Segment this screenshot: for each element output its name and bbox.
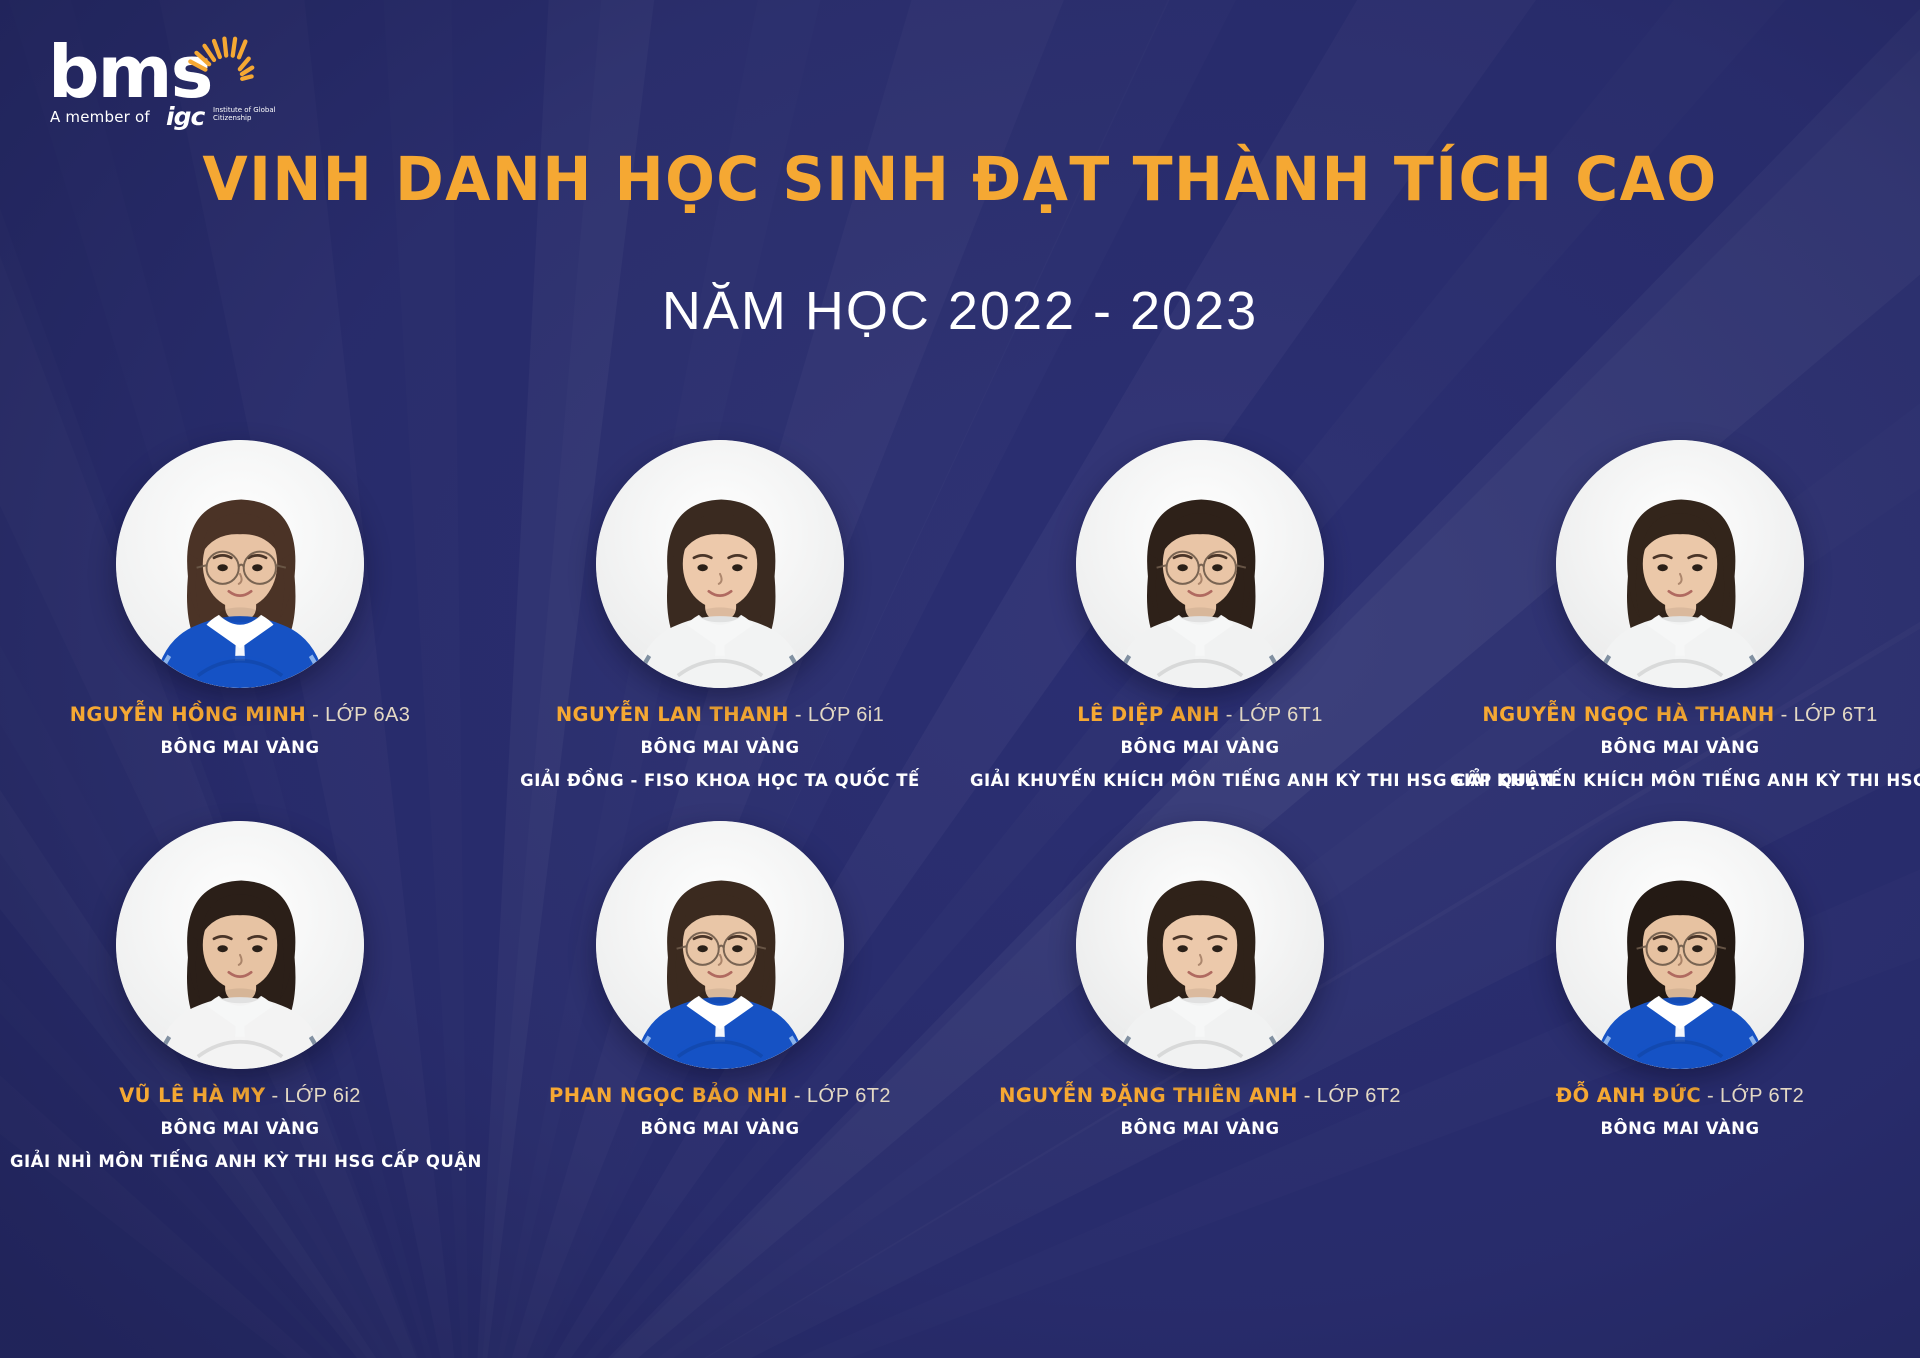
student-name-line: NGUYỄN NGỌC HÀ THANH - LỚP 6T1	[1450, 702, 1910, 728]
student-portrait-image	[1076, 440, 1324, 688]
student-class: - LỚP 6T1	[1220, 704, 1323, 726]
logo-wordmark: bms	[48, 36, 211, 108]
student-award: BÔNG MAI VÀNG	[490, 735, 950, 761]
student-name: NGUYỄN HỒNG MINH	[70, 703, 306, 726]
student-name: LÊ DIỆP ANH	[1077, 703, 1220, 726]
students-grid: NGUYỄN HỒNG MINH - LỚP 6A3BÔNG MAI VÀNG	[0, 440, 1920, 1174]
students-row: VŨ LÊ HÀ MY - LỚP 6i2BÔNG MAI VÀNGGIẢI N…	[0, 821, 1920, 1174]
student-class: - LỚP 6i1	[789, 704, 884, 726]
student-card: PHAN NGỌC BẢO NHI - LỚP 6T2BÔNG MAI VÀNG	[480, 821, 960, 1174]
student-photo	[596, 821, 844, 1069]
student-caption: NGUYỄN HỒNG MINH - LỚP 6A3BÔNG MAI VÀNG	[10, 702, 470, 761]
student-class: - LỚP 6T2	[1701, 1085, 1804, 1107]
student-caption: NGUYỄN LAN THANH - LỚP 6i1BÔNG MAI VÀNGG…	[490, 702, 950, 793]
student-photo	[1556, 440, 1804, 688]
student-photo	[1076, 440, 1324, 688]
student-caption: ĐỖ ANH ĐỨC - LỚP 6T2BÔNG MAI VÀNG	[1450, 1083, 1910, 1142]
student-caption: VŨ LÊ HÀ MY - LỚP 6i2BÔNG MAI VÀNGGIẢI N…	[10, 1083, 470, 1174]
student-photo	[116, 821, 364, 1069]
student-portrait-image	[1556, 821, 1804, 1069]
igc-wordmark: igc	[166, 102, 204, 131]
student-class: - LỚP 6A3	[306, 704, 410, 726]
student-award: BÔNG MAI VÀNG	[970, 735, 1430, 761]
student-award: BÔNG MAI VÀNG	[490, 1116, 950, 1142]
student-class: - LỚP 6T2	[1298, 1085, 1401, 1107]
bms-logo: bms A member of igc Institute of Glo	[48, 26, 308, 134]
student-name-line: LÊ DIỆP ANH - LỚP 6T1	[970, 702, 1430, 728]
student-photo	[1076, 821, 1324, 1069]
logo-member-text: A member of	[50, 108, 150, 126]
student-award: GIẢI ĐỒNG - FISO KHOA HỌC TA QUỐC TẾ	[490, 768, 950, 794]
student-portrait-image	[596, 440, 844, 688]
student-name-line: VŨ LÊ HÀ MY - LỚP 6i2	[10, 1083, 470, 1109]
sunburst-icon	[188, 28, 270, 110]
student-photo	[596, 440, 844, 688]
student-name: PHAN NGỌC BẢO NHI	[549, 1084, 788, 1107]
student-caption: LÊ DIỆP ANH - LỚP 6T1BÔNG MAI VÀNGGIẢI K…	[970, 702, 1430, 793]
student-caption: NGUYỄN NGỌC HÀ THANH - LỚP 6T1BÔNG MAI V…	[1450, 702, 1910, 793]
page-title: VINH DANH HỌC SINH ĐẠT THÀNH TÍCH CAO	[38, 148, 1881, 212]
student-portrait-image	[1556, 440, 1804, 688]
student-portrait-image	[116, 440, 364, 688]
student-card: NGUYỄN ĐẶNG THIÊN ANH - LỚP 6T2BÔNG MAI …	[960, 821, 1440, 1174]
student-caption: PHAN NGỌC BẢO NHI - LỚP 6T2BÔNG MAI VÀNG	[490, 1083, 950, 1142]
student-photo	[1556, 821, 1804, 1069]
student-class: - LỚP 6i2	[266, 1085, 361, 1107]
student-name: NGUYỄN LAN THANH	[556, 703, 789, 726]
student-name-line: ĐỖ ANH ĐỨC - LỚP 6T2	[1450, 1083, 1910, 1109]
student-portrait-image	[1076, 821, 1324, 1069]
student-award: BÔNG MAI VÀNG	[970, 1116, 1430, 1142]
student-award: GIẢI KHUYẾN KHÍCH MÔN TIẾNG ANH KỲ THI H…	[1450, 768, 1910, 794]
igc-tagline: Institute of Global Citizenship	[213, 106, 283, 122]
student-card: NGUYỄN NGỌC HÀ THANH - LỚP 6T1BÔNG MAI V…	[1440, 440, 1920, 793]
student-caption: NGUYỄN ĐẶNG THIÊN ANH - LỚP 6T2BÔNG MAI …	[970, 1083, 1430, 1142]
students-row: NGUYỄN HỒNG MINH - LỚP 6A3BÔNG MAI VÀNG	[0, 440, 1920, 793]
student-photo	[116, 440, 364, 688]
student-name: VŨ LÊ HÀ MY	[119, 1084, 265, 1107]
student-award: BÔNG MAI VÀNG	[1450, 735, 1910, 761]
student-class: - LỚP 6T1	[1775, 704, 1878, 726]
student-award: BÔNG MAI VÀNG	[1450, 1116, 1910, 1142]
student-name-line: NGUYỄN LAN THANH - LỚP 6i1	[490, 702, 950, 728]
student-name: NGUYỄN ĐẶNG THIÊN ANH	[999, 1084, 1298, 1107]
student-award: GIẢI NHÌ MÔN TIẾNG ANH KỲ THI HSG CẤP QU…	[10, 1149, 470, 1175]
student-name: NGUYỄN NGỌC HÀ THANH	[1482, 703, 1774, 726]
student-name: ĐỖ ANH ĐỨC	[1556, 1084, 1701, 1107]
student-class: - LỚP 6T2	[788, 1085, 891, 1107]
student-name-line: NGUYỄN ĐẶNG THIÊN ANH - LỚP 6T2	[970, 1083, 1430, 1109]
student-name-line: NGUYỄN HỒNG MINH - LỚP 6A3	[10, 702, 470, 728]
student-name-line: PHAN NGỌC BẢO NHI - LỚP 6T2	[490, 1083, 950, 1109]
page-subtitle: NĂM HỌC 2022 - 2023	[0, 280, 1920, 342]
student-portrait-image	[116, 821, 364, 1069]
student-card: VŨ LÊ HÀ MY - LỚP 6i2BÔNG MAI VÀNGGIẢI N…	[0, 821, 480, 1174]
student-card: ĐỖ ANH ĐỨC - LỚP 6T2BÔNG MAI VÀNG	[1440, 821, 1920, 1174]
award-poster: bms A member of igc Institute of Glo	[0, 0, 1920, 1358]
student-card: LÊ DIỆP ANH - LỚP 6T1BÔNG MAI VÀNGGIẢI K…	[960, 440, 1440, 793]
student-award: GIẢI KHUYẾN KHÍCH MÔN TIẾNG ANH KỲ THI H…	[970, 768, 1430, 794]
student-card: NGUYỄN HỒNG MINH - LỚP 6A3BÔNG MAI VÀNG	[0, 440, 480, 793]
student-award: BÔNG MAI VÀNG	[10, 735, 470, 761]
student-card: NGUYỄN LAN THANH - LỚP 6i1BÔNG MAI VÀNGG…	[480, 440, 960, 793]
student-portrait-image	[596, 821, 844, 1069]
student-award: BÔNG MAI VÀNG	[10, 1116, 470, 1142]
